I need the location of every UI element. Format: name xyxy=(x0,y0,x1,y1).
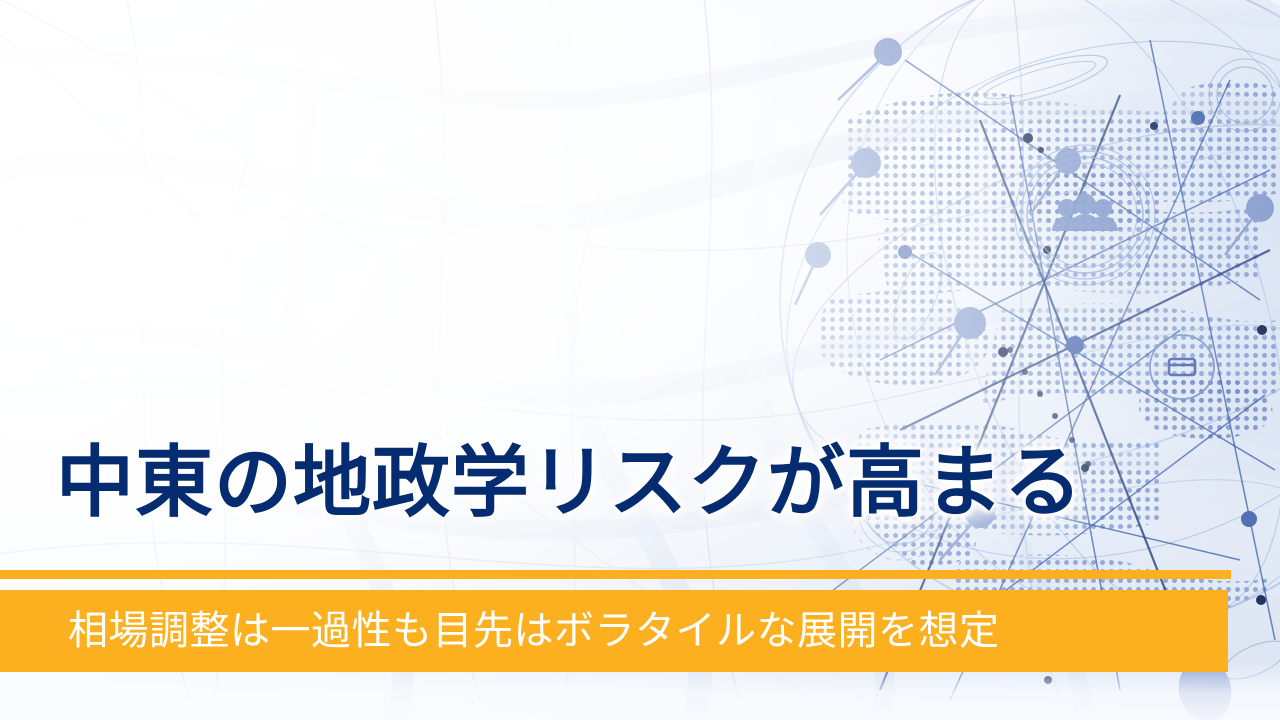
title-slide: 中東の地政学リスクが高まる 相場調整は一過性も目先はボラタイルな展開を想定 xyxy=(0,0,1280,720)
subtitle-band: 相場調整は一過性も目先はボラタイルな展開を想定 xyxy=(0,590,1228,672)
dotted-world-map xyxy=(817,81,1280,679)
title-block: 中東の地政学リスクが高まる xyxy=(56,428,1236,536)
node-pin-markers xyxy=(795,38,1274,684)
accent-rule xyxy=(0,570,1231,579)
globe-outline-rings xyxy=(719,0,1280,693)
card-badge-icon xyxy=(1150,335,1214,399)
people-badge-icon xyxy=(1015,145,1155,285)
slide-subtitle: 相場調整は一過性も目先はボラタイルな展開を想定 xyxy=(68,611,1000,651)
slide-title: 中東の地政学リスクが高まる xyxy=(56,443,1083,521)
